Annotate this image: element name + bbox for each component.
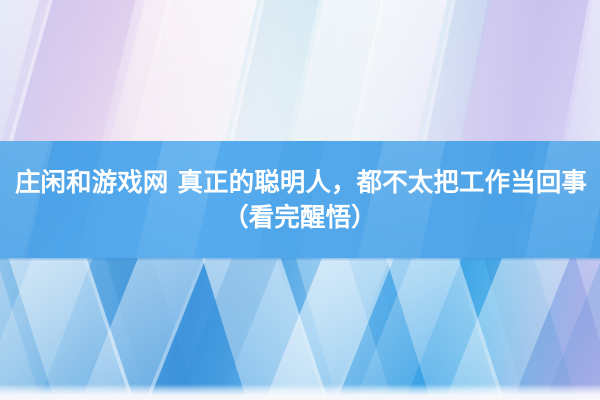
- bottom-panel-seam: [0, 258, 600, 261]
- headline-text-block: 庄闲和游戏网 真正的聪明人，都不太把工作当回事 （看完醒悟）: [0, 141, 600, 258]
- headline-line-2: （看完醒悟）: [223, 201, 377, 233]
- top-gradient-panel: [0, 0, 600, 142]
- bottom-chevron-pattern: [0, 258, 600, 400]
- article-banner-image: 庄闲和游戏网 真正的聪明人，都不太把工作当回事 （看完醒悟）: [0, 0, 600, 400]
- bottom-white-fade-strip: [0, 384, 600, 400]
- top-chevron-pattern: [0, 0, 600, 142]
- headline-banner: 庄闲和游戏网 真正的聪明人，都不太把工作当回事 （看完醒悟）: [0, 141, 600, 258]
- bottom-gradient-panel: [0, 258, 600, 400]
- headline-line-1: 庄闲和游戏网 真正的聪明人，都不太把工作当回事: [0, 166, 600, 198]
